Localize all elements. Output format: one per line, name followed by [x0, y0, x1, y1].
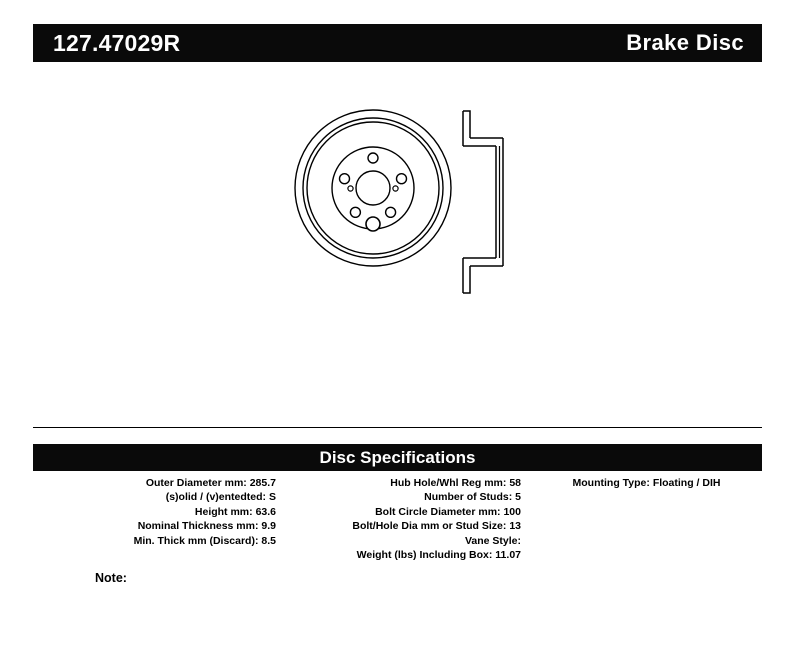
spec-row: Bolt Circle Diameter mm: 100 — [280, 505, 521, 519]
spec-row: Number of Studs: 5 — [280, 490, 521, 504]
spec-value: 11.07 — [495, 549, 521, 561]
part-number-label: 127.47029R — [53, 32, 180, 55]
spec-label: Height mm: — [195, 506, 253, 518]
technical-drawing-area — [0, 70, 800, 420]
rotor-alignment-hole — [366, 217, 380, 231]
rotor-hub-bore — [356, 171, 390, 205]
specifications-table: Outer Diameter mm: 285.7 (s)olid / (v)en… — [33, 476, 762, 562]
spec-label: Bolt Circle Diameter mm: — [375, 506, 500, 518]
specifications-title-bar: Disc Specifications — [33, 444, 762, 471]
spec-value: 13 — [509, 520, 521, 532]
note-block: Note: — [33, 570, 313, 586]
spec-column-left: Outer Diameter mm: 285.7 (s)olid / (v)en… — [33, 476, 280, 548]
spec-row: Weight (lbs) Including Box: 11.07 — [280, 548, 521, 562]
note-value — [127, 571, 130, 585]
spec-label: Vane Style: — [465, 535, 521, 547]
spec-label: Number of Studs: — [424, 491, 512, 503]
spec-label: Min. Thick mm (Discard): — [134, 535, 259, 547]
spec-column-right: Mounting Type: Floating / DIH — [525, 476, 762, 490]
spec-value: 285.7 — [250, 477, 276, 489]
spec-row: Min. Thick mm (Discard): 8.5 — [33, 534, 276, 548]
header-bar: 127.47029R Brake Disc — [33, 24, 762, 62]
note-row: Note: — [33, 570, 313, 586]
rotor-stud-holes — [340, 153, 407, 217]
note-label: Note: — [95, 571, 127, 585]
spec-label: (s)olid / (v)entedted: — [166, 491, 266, 503]
spec-row: Bolt/Hole Dia mm or Stud Size: 13 — [280, 519, 521, 533]
rotor-face-view — [295, 110, 451, 266]
spec-value: 9.9 — [261, 520, 276, 532]
spec-row: Vane Style: — [280, 534, 521, 548]
spec-row: (s)olid / (v)entedted: S — [33, 490, 276, 504]
brake-disc-drawing — [0, 70, 800, 420]
spec-column-middle: Hub Hole/Whl Reg mm: 58 Number of Studs:… — [280, 476, 525, 562]
spec-value: 5 — [515, 491, 521, 503]
spec-row: Outer Diameter mm: 285.7 — [33, 476, 276, 490]
spec-value: 63.6 — [256, 506, 276, 518]
spec-value: 100 — [503, 506, 521, 518]
specifications-title: Disc Specifications — [320, 449, 476, 466]
spec-value: 8.5 — [261, 535, 276, 547]
spec-label: Bolt/Hole Dia mm or Stud Size: — [352, 520, 506, 532]
spec-row: Height mm: 63.6 — [33, 505, 276, 519]
spec-value: 58 — [509, 477, 521, 489]
spec-label: Weight (lbs) Including Box: — [357, 549, 493, 561]
product-type-title: Brake Disc — [626, 32, 744, 54]
spec-label: Hub Hole/Whl Reg mm: — [390, 477, 506, 489]
spec-label: Outer Diameter mm: — [146, 477, 247, 489]
spec-row: Mounting Type: Floating / DIH — [531, 476, 762, 490]
spec-label: Nominal Thickness mm: — [138, 520, 259, 532]
spec-value: Floating / DIH — [653, 477, 721, 489]
section-divider — [33, 427, 762, 428]
spec-label: Mounting Type: — [573, 477, 650, 489]
spec-row: Nominal Thickness mm: 9.9 — [33, 519, 276, 533]
spec-row: Hub Hole/Whl Reg mm: 58 — [280, 476, 521, 490]
rotor-side-section-view — [463, 111, 503, 293]
spec-value: S — [269, 491, 276, 503]
